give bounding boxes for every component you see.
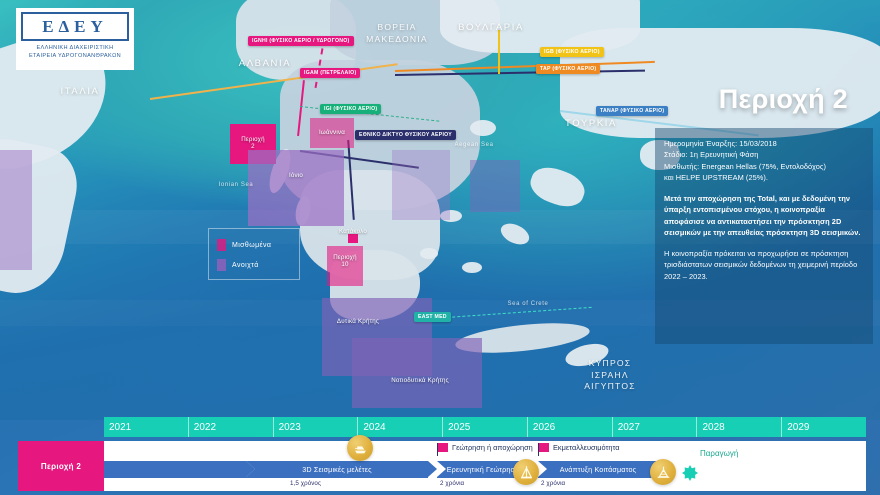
timeline-year-2024: 2024 xyxy=(358,417,443,437)
block-central-open[interactable] xyxy=(392,150,450,220)
country-label-albania: ΑΛΒΑΝΙΑ xyxy=(230,58,300,69)
block-aegean-open[interactable] xyxy=(470,160,520,212)
seismic-vessel-icon xyxy=(347,435,373,461)
milestone-label-commerciality: Εκμεταλλευσιμότητα xyxy=(553,443,620,452)
sea-label-ionian: Ionian Sea xyxy=(206,182,266,188)
flag-icon xyxy=(538,443,549,452)
pipeline-tag-tanap[interactable]: TANAP (ΦΥΣΙΚΟ ΑΕΡΙΟ) xyxy=(596,106,668,116)
phase-notch-icon xyxy=(437,461,446,477)
country-label-turkey: ΤΟΥΡΚΙΑ xyxy=(556,118,626,129)
country-cluster-label: ΚΥΠΡΟΣ ΙΣΡΑΗΛ ΑΙΓΥΠΤΟΣ xyxy=(570,358,650,393)
phase-field-development[interactable]: Ανάπτυξη Κοιτάσματος xyxy=(538,461,658,478)
land-island xyxy=(462,262,482,273)
block-katakolo[interactable] xyxy=(348,234,358,243)
country-label-north-macedonia: ΒΟΡΕΙΑ ΜΑΚΕΔΟΝΙΑ xyxy=(352,22,442,45)
pipeline-tag-ignhi[interactable]: IGNHI (ΦΥΣΙΚΟ ΑΕΡΙΟ / ΥΔΡΟΓΟΝΟ) xyxy=(248,36,354,46)
duration-field-development: 2 χρόνια xyxy=(541,480,565,487)
block-perioxi-10[interactable] xyxy=(327,246,363,286)
platform-icon xyxy=(650,459,676,485)
edey-logo-mark: ΕΔΕΥ xyxy=(21,12,129,41)
country-label-italy: ΙΤΑΛΙΑ xyxy=(48,86,112,97)
timeline-year-2027: 2027 xyxy=(613,417,698,437)
legend-label-leased: Μισθωμένα xyxy=(232,242,271,249)
phase-label-3d-seismic: 3D Σεισμικές μελέτες xyxy=(302,465,372,474)
edey-logo-line1: ΕΛΛΗΝΙΚΗ ΔΙΑΧΕΙΡΙΣΤΙΚΗ xyxy=(21,44,129,52)
pipeline-tag-national-grid[interactable]: ΕΘΝΙΚΟ ΔΙΚΤΥΟ ΦΥΣΙΚΟΥ ΑΕΡΙΟΥ xyxy=(355,130,456,140)
timeline-year-2028: 2028 xyxy=(697,417,782,437)
timeline-year-2029: 2029 xyxy=(782,417,866,437)
duration-exploration-well: 2 χρόνια xyxy=(440,480,464,487)
edey-logo: ΕΔΕΥ ΕΛΛΗΝΙΚΗ ΔΙΑΧΕΙΡΙΣΤΙΚΗ ΕΤΑΙΡΕΙΑ ΥΔΡ… xyxy=(16,8,134,70)
timeline: 2021 2022 2023 2024 2025 2026 2027 2028 … xyxy=(0,417,880,495)
pipeline-tag-tap[interactable]: TAP (ΦΥΣΙΚΟ ΑΕΡΙΟ) xyxy=(536,64,600,74)
block-ioannina[interactable] xyxy=(310,118,354,148)
legend-item-open: Ανοιχτά xyxy=(217,259,259,271)
legend-item-leased: Μισθωμένα xyxy=(217,239,271,251)
sea-label-aegean: Aegean Sea xyxy=(444,142,504,148)
map-legend: Μισθωμένα Ανοιχτά xyxy=(208,228,300,280)
slide-root: Περιοχή 2 Ιωάννινα Ιόνιο Κατάκολο Περιοχ… xyxy=(0,0,880,495)
edey-logo-line2: ΕΤΑΙΡΕΙΑ ΥΔΡΟΓΟΝΑΝΘΡΑΚΩΝ xyxy=(21,52,129,60)
phase-preceding[interactable] xyxy=(104,461,246,478)
duration-3d-seismic: 1,5 χρόνος xyxy=(290,480,321,487)
phase-label-exploration-well: Ερευνητική Γεώτρηση xyxy=(447,465,520,474)
legend-label-open: Ανοιχτά xyxy=(232,262,259,269)
timeline-years-axis: 2021 2022 2023 2024 2025 2026 2027 2028 … xyxy=(104,417,866,437)
block-notiodytika-kritis[interactable] xyxy=(352,338,482,408)
sea-label-sea-of-crete: Sea of Crete xyxy=(498,301,558,307)
page-title: Περιοχή 2 xyxy=(719,84,848,115)
production-star-icon xyxy=(682,465,698,481)
timeline-year-2022: 2022 xyxy=(189,417,274,437)
milestone-drill-or-exit: Γεώτρηση ή αποχώρηση xyxy=(437,443,533,452)
country-label-bulgaria: ΒΟΥΛΓΑΡΙΑ xyxy=(452,22,530,33)
land-island xyxy=(470,120,496,136)
timeline-track: Γεώτρηση ή αποχώρηση Εκμεταλλευσιμότητα … xyxy=(104,441,866,491)
info-paragraph-details: Ημερομηνία Έναρξης: 15/03/2018 Στάδιο: 1… xyxy=(664,138,864,184)
phase-3d-seismic[interactable]: 3D Σεισμικές μελέτες xyxy=(246,461,428,478)
production-label: Παραγωγή xyxy=(700,449,738,458)
pipeline-tag-igi[interactable]: IGI (ΦΥΣΙΚΟ ΑΕΡΙΟ) xyxy=(320,104,381,114)
land-island xyxy=(420,248,438,259)
flag-icon xyxy=(437,443,448,452)
legend-swatch-leased-icon xyxy=(217,239,226,251)
timeline-year-2026: 2026 xyxy=(528,417,613,437)
timeline-year-2021: 2021 xyxy=(104,417,189,437)
timeline-region-badge: Περιοχή 2 xyxy=(18,441,104,491)
block-ionio[interactable] xyxy=(248,150,344,226)
pipeline-tag-igam[interactable]: IGAM (ΠΕΤΡΕΛΑΙΟ) xyxy=(300,68,360,78)
phase-label-field-development: Ανάπτυξη Κοιτάσματος xyxy=(560,465,636,474)
pipeline-tag-igb[interactable]: IGB (ΦΥΣΙΚΟ ΑΕΡΙΟ) xyxy=(540,47,604,57)
info-paragraph-3d-plan: Η κοινοπραξία πρόκειται να προχωρήσει σε… xyxy=(664,248,864,282)
legend-swatch-open-icon xyxy=(217,259,226,271)
pipeline-igb xyxy=(498,30,500,74)
block-italy-open[interactable] xyxy=(0,150,32,270)
edey-logo-subtitle: ΕΛΛΗΝΙΚΗ ΔΙΑΧΕΙΡΙΣΤΙΚΗ ΕΤΑΙΡΕΙΑ ΥΔΡΟΓΟΝΑ… xyxy=(21,44,129,60)
phase-notch-icon xyxy=(538,461,547,477)
milestone-commerciality: Εκμεταλλευσιμότητα xyxy=(538,443,620,452)
timeline-year-2025: 2025 xyxy=(443,417,528,437)
pipeline-tag-east-med[interactable]: EAST MED xyxy=(414,312,451,322)
milestone-label-drill-or-exit: Γεώτρηση ή αποχώρηση xyxy=(452,443,533,452)
drill-rig-icon xyxy=(513,459,539,485)
info-paragraph-total-exit: Μετά την αποχώρηση της Total, και με δεδ… xyxy=(664,193,864,239)
info-panel: Ημερομηνία Έναρξης: 15/03/2018 Στάδιο: 1… xyxy=(655,128,873,344)
timeline-year-2023: 2023 xyxy=(274,417,359,437)
